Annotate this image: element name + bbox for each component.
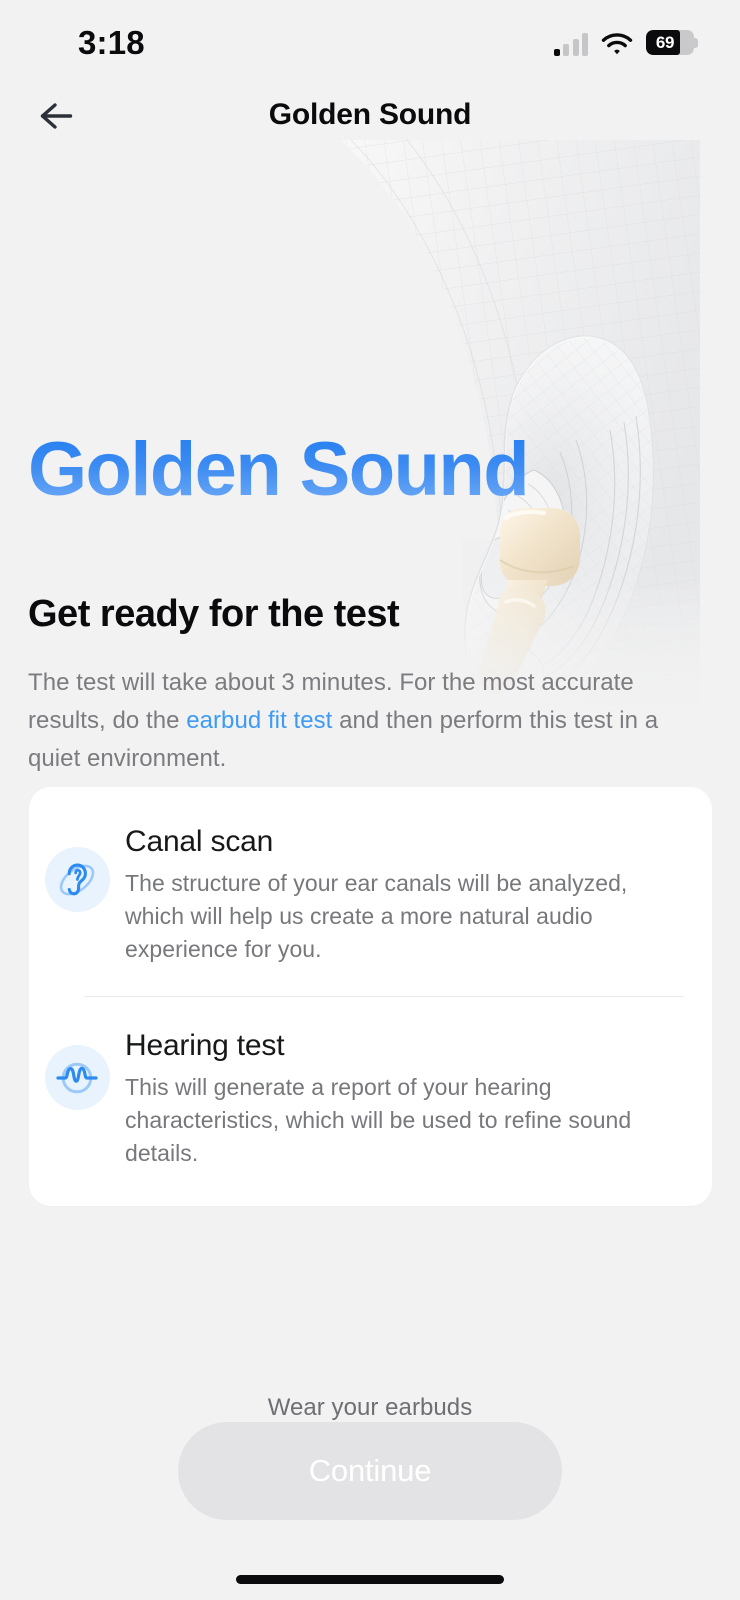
intro-heading: Get ready for the test	[28, 590, 740, 638]
wifi-icon	[601, 32, 633, 56]
battery-percent-label: 69	[649, 32, 681, 53]
canal-scan-icon-wrap	[29, 823, 125, 912]
hearing-test-icon-wrap	[29, 1027, 125, 1110]
feature-title: Hearing test	[125, 1027, 684, 1065]
intro-section: Get ready for the test The test will tak…	[0, 590, 740, 778]
status-icons: 69	[554, 28, 699, 56]
feature-description: This will generate a report of your hear…	[125, 1071, 684, 1170]
status-time: 3:18	[78, 24, 145, 62]
hearing-test-text: Hearing test This will generate a report…	[125, 1027, 712, 1170]
wear-earbuds-hint: Wear your earbuds	[0, 1394, 740, 1422]
feature-row-hearing-test: Hearing test This will generate a report…	[29, 997, 712, 1206]
intro-body: The test will take about 3 minutes. For …	[28, 664, 712, 778]
cellular-signal-icon	[554, 32, 589, 56]
feature-title: Canal scan	[125, 823, 684, 861]
home-indicator	[236, 1575, 504, 1584]
icon-circle	[45, 847, 110, 912]
status-bar: 3:18 69	[0, 0, 740, 78]
hero-title: Golden Sound	[28, 424, 528, 516]
nav-bar: Golden Sound	[0, 86, 740, 150]
phone-screen: Golden Sound 3:18 69	[0, 0, 740, 1600]
feature-description: The structure of your ear canals will be…	[125, 867, 684, 966]
earbud-fit-test-link[interactable]: earbud fit test	[186, 707, 332, 734]
battery-icon: 69	[646, 30, 698, 56]
continue-button[interactable]: Continue	[178, 1422, 562, 1520]
feature-row-canal-scan: Canal scan The structure of your ear can…	[29, 787, 712, 996]
canal-scan-text: Canal scan The structure of your ear can…	[125, 823, 712, 966]
feature-card: Canal scan The structure of your ear can…	[29, 787, 712, 1206]
ear-canal-scan-icon	[56, 859, 98, 901]
icon-circle	[45, 1045, 110, 1110]
page-title: Golden Sound	[0, 98, 740, 132]
hearing-waveform-icon	[54, 1057, 100, 1099]
